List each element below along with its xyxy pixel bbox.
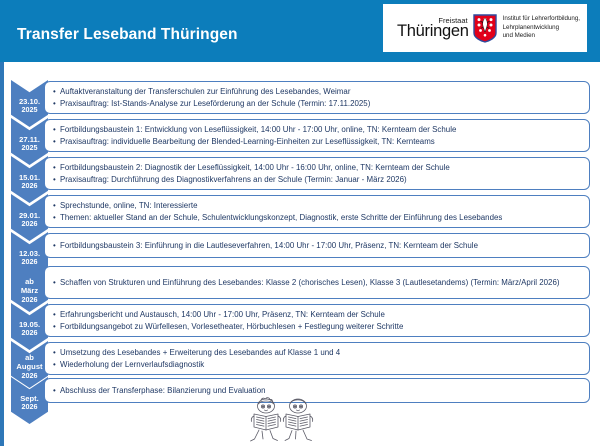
timeline-bullet-text: Praxisauftrag: Durchführung des Diagnost… [60,174,582,185]
timeline-year-label: 2026 [22,403,38,411]
timeline-year-label: 2026 [22,182,38,190]
timeline-year-label: 2026 [22,220,38,228]
timeline-bullet: •Praxisauftrag: Durchführung des Diagnos… [53,174,582,185]
logo-institute-text: Institut für Lehrerfortbildung, Lehrplan… [503,15,580,42]
timeline-year-label: 2026 [22,329,38,337]
timeline-list: 23.10.2025•Auftaktveranstaltung der Tran… [0,66,600,396]
timeline-year-label: 2025 [22,144,38,152]
two-children-reading-books-icon [232,396,344,446]
freistaat-thueringen-wordmark: Freistaat Thüringen [397,17,469,40]
timeline-date-chevron: Sept.2026 [11,377,48,424]
timeline-row: abMärz2026•Schaffen von Strukturen und E… [0,265,600,302]
timeline-bullet: •Praxisauftrag: Ist-Stands-Analyse zur L… [53,98,582,109]
bullet-dot-icon: • [53,200,60,211]
timeline-content-box: •Erfahrungsbericht und Austausch, 14:00 … [44,304,590,337]
bullet-dot-icon: • [53,136,60,147]
timeline-row: 12.03.2026•Fortbildungsbaustein 3: Einfü… [0,232,600,269]
timeline-bullet: •Praxisauftrag: individuelle Bearbeitung… [53,136,582,147]
timeline-bullet-text: Erfahrungsbericht und Austausch, 14:00 U… [60,309,582,320]
timeline-bullet: •Wiederholung der Lernverlaufsdiagnostik [53,359,582,370]
logo-thueringen-text: Thüringen [397,23,469,40]
timeline-content-box: •Umsetzung des Lesebandes + Erweiterung … [44,342,590,375]
logo-block: Freistaat Thüringen Institut für Lehrerf… [383,4,587,52]
timeline-row: 27.11.2025•Fortbildungsbaustein 1: Entwi… [0,118,600,155]
bullet-dot-icon: • [53,309,60,320]
timeline-bullet-text: Sprechstunde, online, TN: Interessierte [60,200,582,211]
bullet-dot-icon: • [53,321,60,332]
slide-header: Transfer Leseband Thüringen Freistaat Th… [0,0,600,62]
timeline-bullet: •Fortbildungsbaustein 2: Diagnostik der … [53,162,582,173]
bullet-dot-icon: • [53,385,60,396]
timeline-bullet-text: Fortbildungsangebot zu Würfellesen, Vorl… [60,321,582,332]
bullet-dot-icon: • [53,212,60,223]
bullet-dot-icon: • [53,124,60,135]
timeline-content-box: •Sprechstunde, online, TN: Interessierte… [44,195,590,228]
timeline-bullet-text: Praxisauftrag: Ist-Stands-Analyse zur Le… [60,98,582,109]
timeline-row: 15.01.2026•Fortbildungsbaustein 2: Diagn… [0,156,600,193]
bullet-dot-icon: • [53,162,60,173]
slide-root: Transfer Leseband Thüringen Freistaat Th… [0,0,600,446]
timeline-year-label: 2025 [22,106,38,114]
timeline-bullet-text: Themen: aktueller Stand an der Schule, S… [60,212,582,223]
timeline-row: 29.01.2026•Sprechstunde, online, TN: Int… [0,194,600,231]
bullet-dot-icon: • [53,277,60,288]
page-title: Transfer Leseband Thüringen [17,26,238,44]
timeline-bullet-text: Wiederholung der Lernverlaufsdiagnostik [60,359,582,370]
timeline-row: 23.10.2025•Auftaktveranstaltung der Tran… [0,80,600,117]
bullet-dot-icon: • [53,347,60,358]
timeline-content-box: •Fortbildungsbaustein 2: Diagnostik der … [44,157,590,190]
timeline-row: abAugust2026•Umsetzung des Lesebandes + … [0,341,600,378]
timeline-content-box: •Auftaktveranstaltung der Transferschule… [44,81,590,114]
timeline-bullet-text: Umsetzung des Lesebandes + Erweiterung d… [60,347,582,358]
bullet-dot-icon: • [53,86,60,97]
timeline-bullet: •Abschluss der Transferphase: Bilanzieru… [53,385,582,396]
timeline-content-box: •Fortbildungsbaustein 3: Einführung in d… [44,233,590,258]
timeline-bullet: •Themen: aktueller Stand an der Schule, … [53,212,582,223]
bullet-dot-icon: • [53,359,60,370]
timeline-bullet-text: Schaffen von Strukturen und Einführung d… [60,277,582,288]
timeline-bullet: •Fortbildungsbaustein 1: Entwicklung von… [53,124,582,135]
timeline-bullet: •Sprechstunde, online, TN: Interessierte [53,200,582,211]
timeline-bullet: •Auftaktveranstaltung der Transferschule… [53,86,582,97]
timeline-bullet: •Erfahrungsbericht und Austausch, 14:00 … [53,309,582,320]
timeline-bullet-text: Fortbildungsbaustein 2: Diagnostik der L… [60,162,582,173]
timeline-bullet-text: Auftaktveranstaltung der Transferschulen… [60,86,582,97]
bullet-dot-icon: • [53,174,60,185]
timeline-bullet: •Schaffen von Strukturen und Einführung … [53,277,582,288]
timeline-bullet-text: Abschluss der Transferphase: Bilanzierun… [60,385,582,396]
timeline-bullet-text: Fortbildungsbaustein 3: Einführung in di… [60,240,582,251]
bullet-dot-icon: • [53,240,60,251]
timeline-content-box: •Fortbildungsbaustein 1: Entwicklung von… [44,119,590,152]
timeline-bullet: •Fortbildungsangebot zu Würfellesen, Vor… [53,321,582,332]
timeline-bullet-text: Fortbildungsbaustein 1: Entwicklung von … [60,124,582,135]
timeline-row: 19.05.2026•Erfahrungsbericht und Austaus… [0,303,600,340]
timeline-content-box: •Schaffen von Strukturen und Einführung … [44,266,590,299]
thuringia-coat-of-arms-icon [473,14,497,43]
bullet-dot-icon: • [53,98,60,109]
timeline-bullet: •Umsetzung des Lesebandes + Erweiterung … [53,347,582,358]
timeline-bullet-text: Praxisauftrag: individuelle Bearbeitung … [60,136,582,147]
timeline-bullet: •Fortbildungsbaustein 3: Einführung in d… [53,240,582,251]
